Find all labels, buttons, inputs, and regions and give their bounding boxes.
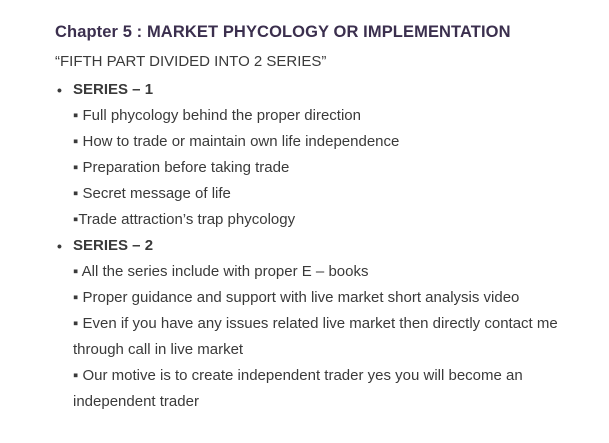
list-item: ▪ All the series include with proper E –… — [55, 259, 609, 285]
document-content: Chapter 5 : MARKET PHYCOLOGY OR IMPLEMEN… — [55, 21, 609, 415]
series-1-label: SERIES – 1 — [73, 81, 153, 98]
list-item: ▪Trade attraction’s trap phycology — [55, 207, 609, 233]
series-2-block: • SERIES – 2 ▪ All the series include wi… — [55, 233, 609, 415]
intro-quote: “FIFTH PART DIVIDED INTO 2 SERIES” — [55, 49, 609, 75]
series-2-label: SERIES – 2 — [73, 237, 153, 254]
series-1-heading: • SERIES – 1 — [55, 77, 609, 103]
list-item: ▪ Preparation before taking trade — [55, 155, 609, 181]
list-item: ▪ Our motive is to create independent tr… — [55, 363, 603, 415]
document-page: Chapter 5 : MARKET PHYCOLOGY OR IMPLEMEN… — [0, 0, 609, 443]
series-1-block: • SERIES – 1 ▪ Full phycology behind the… — [55, 77, 609, 233]
chapter-heading: Chapter 5 : MARKET PHYCOLOGY OR IMPLEMEN… — [55, 21, 609, 43]
round-bullet-icon: • — [57, 233, 62, 259]
round-bullet-icon: • — [57, 77, 62, 103]
list-item: ▪ Proper guidance and support with live … — [55, 285, 609, 311]
list-item: ▪ How to trade or maintain own life inde… — [55, 129, 609, 155]
series-2-heading: • SERIES – 2 — [55, 233, 609, 259]
list-item: ▪ Secret message of life — [55, 181, 609, 207]
list-item: ▪ Full phycology behind the proper direc… — [55, 103, 609, 129]
list-item: ▪ Even if you have any issues related li… — [55, 311, 603, 363]
